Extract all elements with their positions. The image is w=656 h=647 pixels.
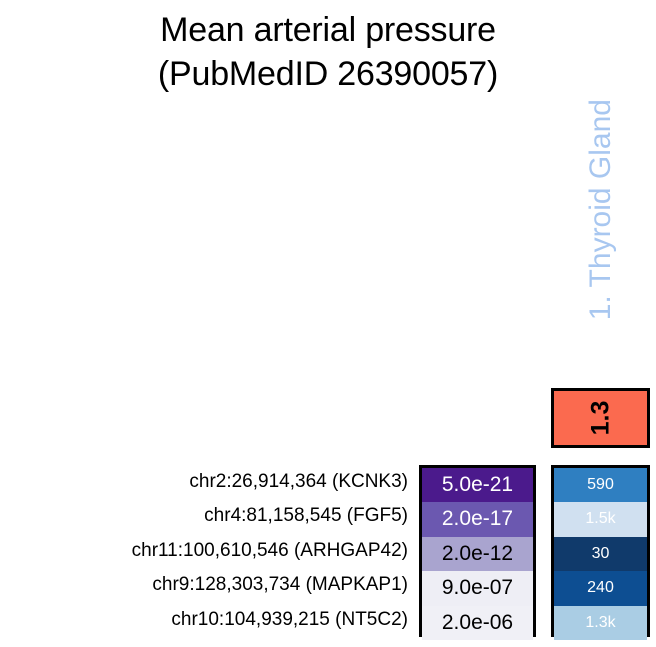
pvalue-cell[interactable]: 5.0e-21	[422, 468, 533, 502]
row-label: chr2:26,914,364 (KCNK3)	[0, 465, 413, 499]
column-header: 1. Thyroid Gland	[551, 120, 651, 382]
row-label: chr9:128,303,734 (MAPKAP1)	[0, 568, 413, 602]
pvalue-cell[interactable]: 9.0e-07	[422, 571, 533, 605]
row-label: chr11:100,610,546 (ARHGAP42)	[0, 534, 413, 568]
title-line-1: Mean arterial pressure	[0, 8, 656, 52]
page-title: Mean arterial pressure (PubMedID 2639005…	[0, 8, 656, 96]
count-column: 5901.5k302401.3k	[551, 465, 650, 637]
row-label: chr10:104,939,215 (NT5C2)	[0, 603, 413, 637]
row-label-column: chr2:26,914,364 (KCNK3)chr4:81,158,545 (…	[0, 465, 413, 637]
count-cell[interactable]: 1.3k	[554, 606, 647, 640]
row-label: chr4:81,158,545 (FGF5)	[0, 499, 413, 533]
pvalue-cell[interactable]: 2.0e-06	[422, 606, 533, 640]
pvalue-cell[interactable]: 2.0e-17	[422, 502, 533, 536]
count-cell[interactable]: 1.5k	[554, 502, 647, 536]
summary-cell-value: 1.3	[586, 401, 615, 436]
count-cell[interactable]: 30	[554, 537, 647, 571]
column-header-label-thyroid-gland: 1. Thyroid Gland	[581, 99, 621, 361]
pvalue-cell[interactable]: 2.0e-12	[422, 537, 533, 571]
title-line-2: (PubMedID 26390057)	[0, 52, 656, 96]
count-cell[interactable]: 240	[554, 571, 647, 605]
summary-cell[interactable]: 1.3	[551, 388, 650, 448]
pvalue-column: 5.0e-212.0e-172.0e-129.0e-072.0e-06	[419, 465, 536, 637]
count-cell[interactable]: 590	[554, 468, 647, 502]
heatmap-matrix: chr2:26,914,364 (KCNK3)chr4:81,158,545 (…	[0, 465, 656, 637]
